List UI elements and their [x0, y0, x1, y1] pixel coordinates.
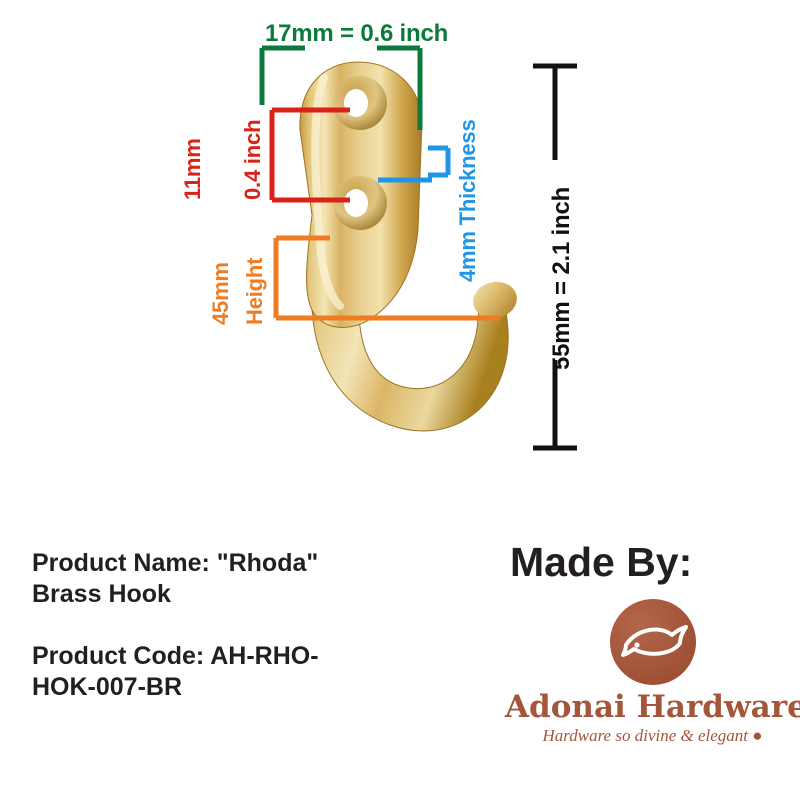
product-code-line-2: HOK-007-BR — [32, 672, 452, 703]
screw-hole-upper — [344, 89, 368, 117]
logo-circle — [610, 599, 696, 685]
brand-tagline: Hardware so divine & elegant ● — [505, 726, 800, 746]
width-dimension-label: 17mm = 0.6 inch — [265, 20, 448, 48]
product-spec-image: 17mm = 0.6 inch 11mm 0.4 inch 4mm Thickn… — [0, 0, 800, 800]
brass-hook-illustration — [0, 0, 800, 530]
made-by-title: Made By: — [510, 540, 800, 585]
height-word-label: Height — [242, 258, 268, 325]
product-name-line-1: Product Name: "Rhoda" — [32, 548, 452, 579]
brand-name: Adonai Hardware — [505, 689, 800, 725]
hole-spacing-inch-label: 0.4 inch — [240, 120, 266, 200]
thickness-dimension-label: 4mm Thickness — [455, 120, 481, 282]
product-name-line-2: Brass Hook — [32, 579, 452, 610]
brand-logo: Adonai Hardware Hardware so divine & ele… — [505, 599, 800, 774]
made-by-block: Made By: Adonai Hardware Hardware so div… — [505, 540, 800, 774]
screw-hole-lower — [344, 189, 368, 217]
product-photo-area: 17mm = 0.6 inch 11mm 0.4 inch 4mm Thickn… — [0, 0, 800, 530]
height-mm-label: 45mm — [208, 262, 234, 325]
product-code-line-1: Product Code: AH-RHO- — [32, 641, 452, 672]
ichthys-fish-icon — [610, 599, 696, 685]
product-info-block: Product Name: "Rhoda" Brass Hook Product… — [32, 548, 452, 703]
total-length-dimension-label: 55mm = 2.1 inch — [548, 187, 576, 370]
hole-spacing-mm-label: 11mm — [180, 138, 206, 200]
